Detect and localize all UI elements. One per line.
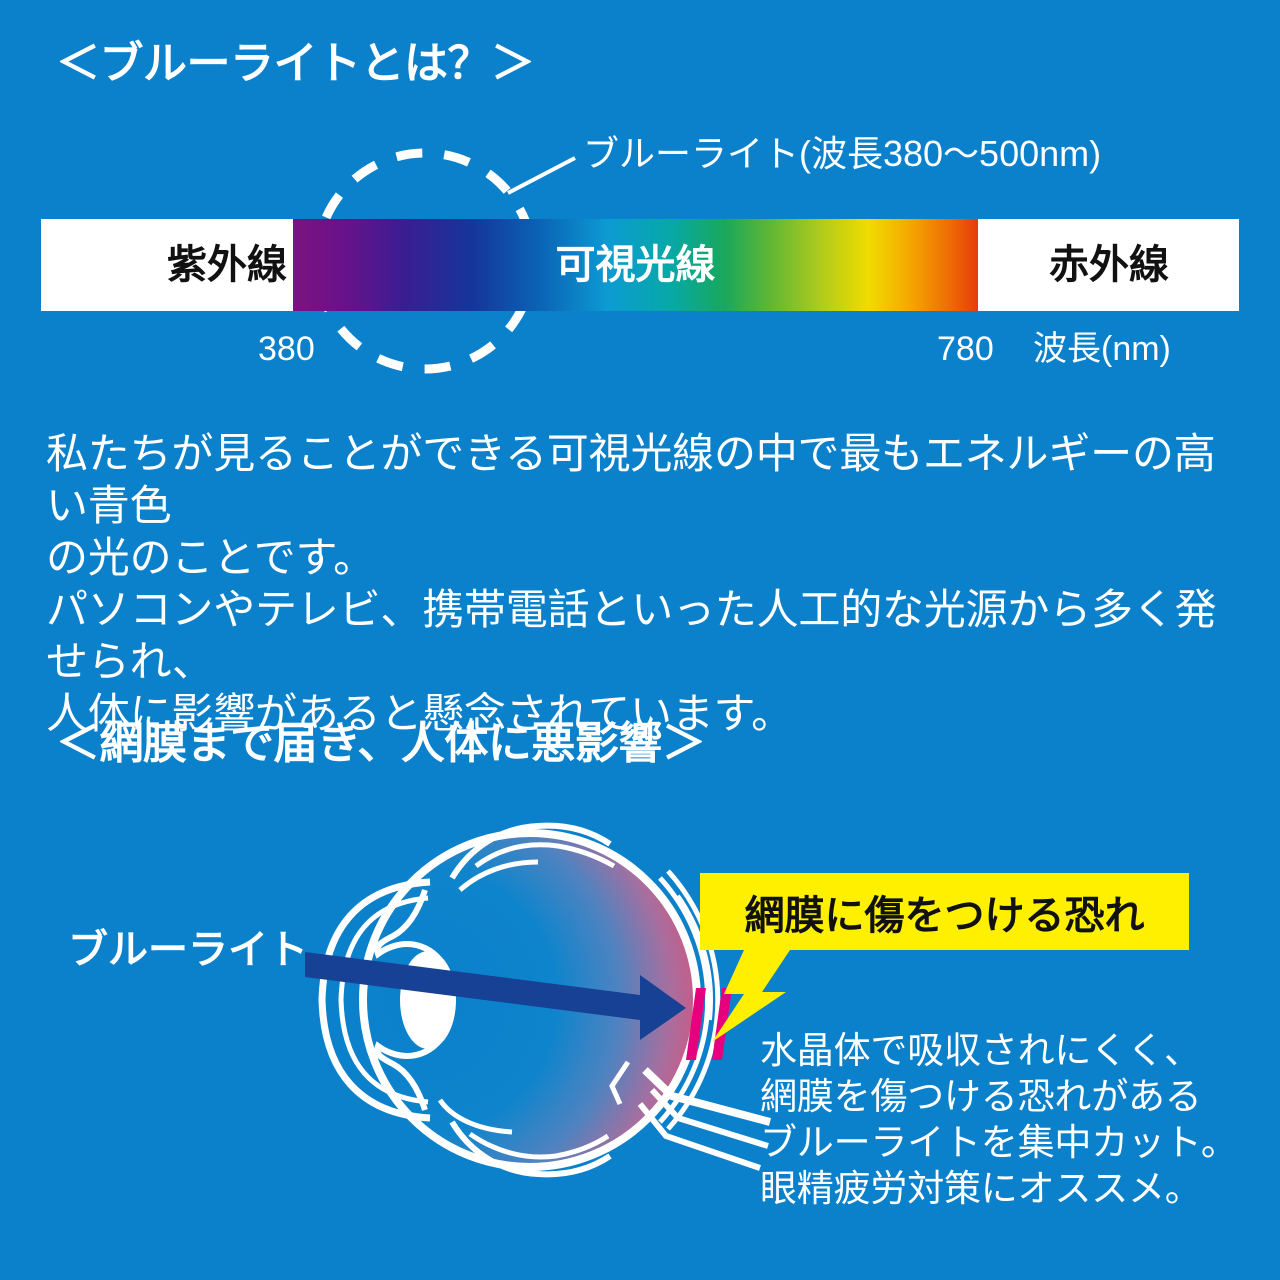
retina-warning-badge: 網膜に傷をつける恐れ (700, 873, 1189, 950)
band-label-visible-light: 可視光線 (293, 219, 978, 311)
blue-light-arrow (305, 952, 686, 1040)
cornea-outline (322, 882, 430, 1118)
blue-light-arrow-label: ブルーライト (68, 930, 308, 970)
spectrum-axis-unit-label: 波長(nm) (1033, 332, 1171, 366)
spectrum-bar: 紫外線 可視光線 赤外線 (41, 219, 1239, 311)
blue-light-range-label: ブルーライト(波長380〜500nm) (583, 136, 1101, 172)
sclera-outer-ring (350, 820, 710, 1180)
optic-nerve-sheath-2 (652, 1090, 768, 1146)
conjunctiva-wisp-bottom-3 (440, 1100, 512, 1132)
spectrum-tick-780: 780 (937, 332, 994, 366)
conjunctiva-wisp-top-2 (476, 845, 614, 866)
retina-warning-badge-text: 網膜に傷をつける恐れ (700, 873, 1189, 950)
ciliary-body-lower (377, 1040, 440, 1110)
spectrum-tick-380: 380 (258, 332, 315, 366)
optic-nerve-sheath-1 (645, 1070, 770, 1122)
poster-root: ＜ブルーライトとは？＞ ブルーライト(波長380〜500nm) 紫外線 可視光線… (0, 0, 1280, 1280)
sclera-outline (363, 833, 697, 1167)
conjunctiva-wisp-top-3 (460, 862, 538, 890)
retina-damage-mark-2 (712, 988, 732, 1060)
blue-light-leader-line (508, 158, 575, 193)
page-title-blue-light: ＜ブルーライトとは？＞ (56, 42, 535, 86)
eyeball-globe (363, 833, 697, 1167)
optic-disc-notch (612, 1062, 628, 1104)
blue-light-cut-description-paragraph: 水晶体で吸収されにくく、 網膜を傷つける恐れがある ブルーライトを集中カット。 … (760, 1028, 1260, 1212)
retina-damage-mark-1 (686, 988, 706, 1060)
page-title-retina-damage: ＜網膜まで届き、人体に悪影響＞ (56, 722, 705, 766)
conjunctiva-wisp-bottom-2 (470, 1134, 608, 1157)
optic-nerve-sheath-3 (640, 1104, 760, 1168)
retina-layer-arc-1 (652, 886, 697, 1114)
blue-light-description-paragraph: 私たちが見ることができる可視光線の中で最もエネルギーの高い青色 の光のことです。… (46, 428, 1246, 740)
lens (400, 951, 456, 1049)
anterior-chamber-outline (341, 898, 428, 1102)
conjunctiva-wisp-top-1 (452, 826, 610, 878)
ciliary-body-upper (377, 890, 440, 960)
conjunctiva-wisp-bottom-1 (452, 1122, 610, 1174)
band-label-infrared: 赤外線 (978, 219, 1240, 311)
retina-damage-marks (686, 988, 732, 1060)
